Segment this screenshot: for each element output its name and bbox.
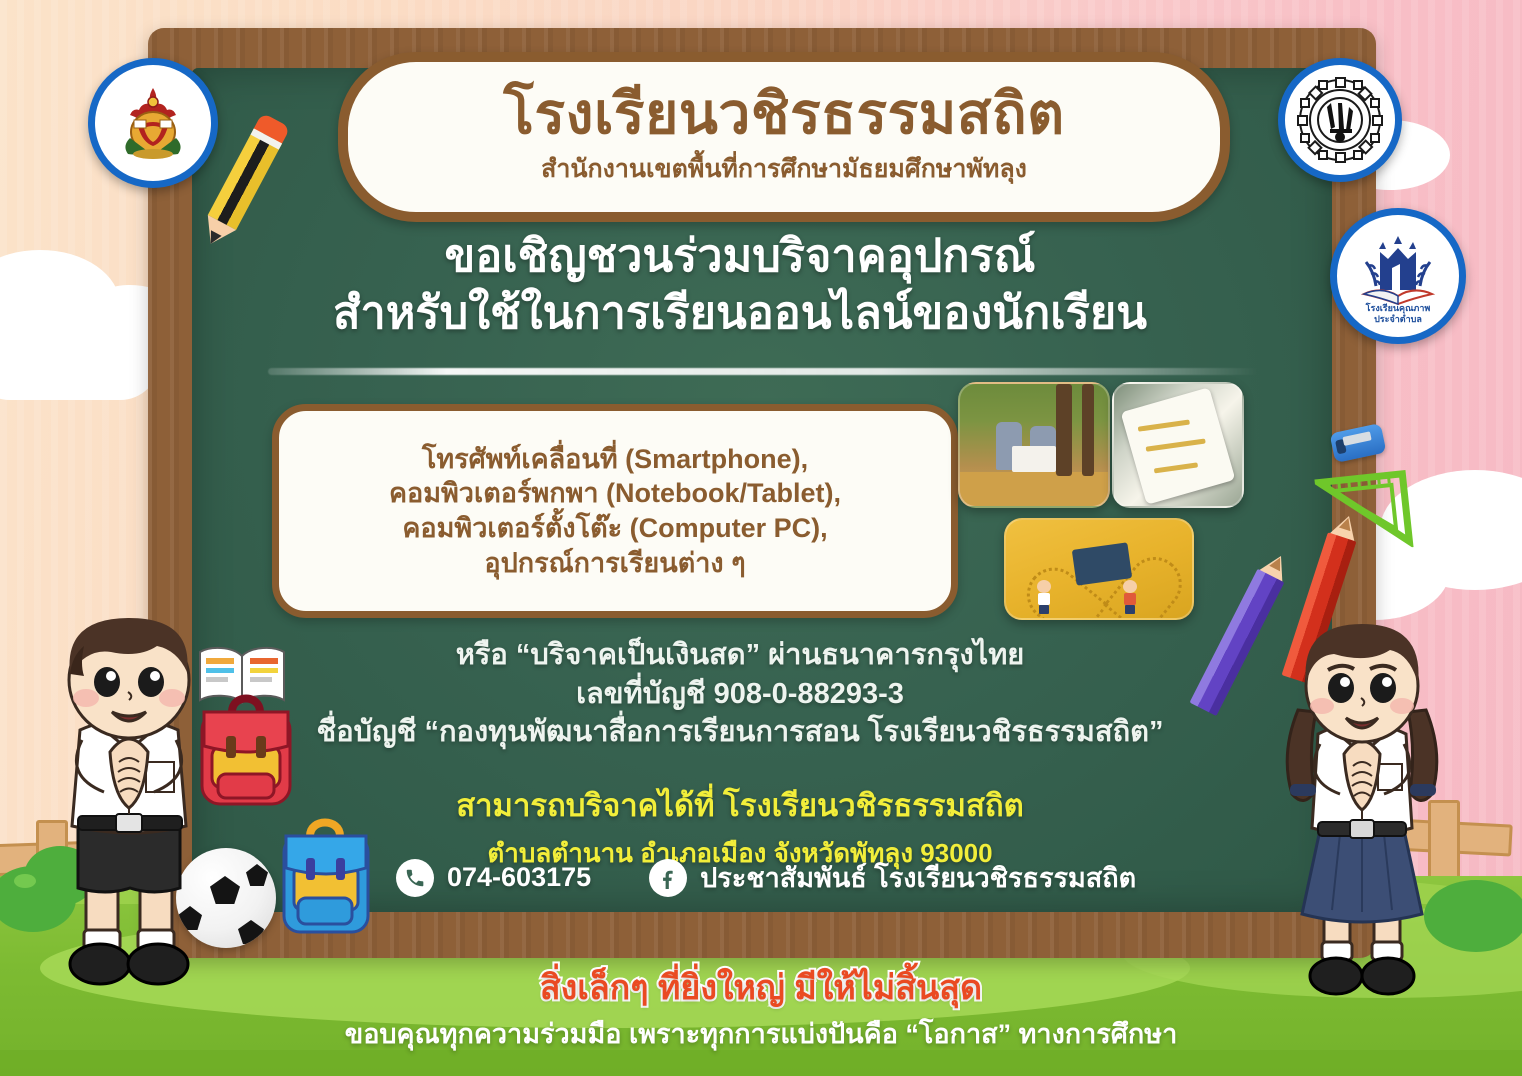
bank-donation-info: หรือ “บริจาคเป็นเงินสด” ผ่านธนาคารกรุงไท…: [210, 636, 1270, 752]
headline: ขอเชิญชวนร่วมบริจาคอุปกรณ์ สำหรับใช้ในกา…: [210, 228, 1270, 341]
poster-root: โรงเรียนวชิรธรรมสถิต สำนักงานเขตพื้นที่ก…: [0, 0, 1522, 1076]
contact-row: 074-603175 ประชาสัมพันธ์ โรงเรียนวชิรธรร…: [396, 856, 1136, 899]
blue-backpack-icon: [280, 812, 372, 938]
photo-child: [1122, 580, 1138, 614]
bank-line-1: หรือ “บริจาคเป็นเงินสด” ผ่านธนาคารกรุงไท…: [210, 636, 1270, 675]
page-subtitle: สำนักงานเขตพื้นที่การศึกษามัธยมศึกษาพัทล…: [541, 149, 1027, 189]
equipment-item: คอมพิวเตอร์ตั้งโต๊ะ (Computer PC),: [402, 511, 827, 546]
photo-scribble: [1154, 462, 1198, 473]
boy-student-character: [24, 612, 234, 1012]
photo-child: [1036, 580, 1052, 614]
facebook-icon: [649, 859, 687, 897]
photo-tree: [1056, 384, 1072, 476]
photo-child-body: [1124, 593, 1136, 605]
photo-child-legs: [1039, 605, 1049, 614]
photo-child-head: [1037, 580, 1051, 593]
cloud-icon: [0, 320, 160, 400]
quality-badge-line-2: ประจำตำบล: [1337, 314, 1459, 324]
ministry-of-education-emblem: [88, 58, 218, 188]
equipment-list-box: โทรศัพท์เคลื่อนที่ (Smartphone), คอมพิวเ…: [272, 404, 958, 618]
girl-student-character: [1262, 618, 1462, 1018]
photo-tree: [1082, 384, 1094, 476]
equipment-item: คอมพิวเตอร์พกพา (Notebook/Tablet),: [389, 476, 841, 511]
facebook-page-name: ประชาสัมพันธ์ โรงเรียนวชิรธรรมสถิต: [700, 856, 1136, 899]
headline-line-1: ขอเชิญชวนร่วมบริจาคอุปกรณ์: [210, 228, 1270, 285]
page-title: โรงเรียนวชิรธรรมสถิต: [503, 86, 1064, 143]
ball-pentagon: [246, 864, 268, 886]
equipment-item: อุปกรณ์การเรียนต่าง ๆ: [484, 546, 745, 581]
photo-laptop: [1012, 446, 1056, 472]
photo-students-outdoor-laptop: [958, 382, 1110, 508]
photo-online-learning-graphic: [1004, 518, 1194, 620]
quality-badge-line-1: โรงเรียนคุณภาพ: [1337, 303, 1459, 313]
sharpener-blade: [1342, 431, 1371, 446]
footer-thanks: ขอบคุณทุกความร่วมมือ เพราะทุกการแบ่งปันค…: [0, 1012, 1522, 1055]
chalk-divider: [268, 368, 1258, 375]
photo-scribble: [1138, 420, 1190, 432]
contact-facebook[interactable]: ประชาสัมพันธ์ โรงเรียนวชิรธรรมสถิต: [649, 856, 1136, 899]
bank-account-number: เลขที่บัญชี 908-0-88293-3: [210, 675, 1270, 714]
photo-child-head: [1123, 580, 1137, 593]
title-banner: โรงเรียนวชิรธรรมสถิต สำนักงานเขตพื้นที่ก…: [338, 52, 1230, 222]
quality-badge-text: โรงเรียนคุณภาพ ประจำตำบล: [1337, 303, 1459, 324]
ball-pentagon: [238, 920, 264, 944]
quality-school-badge: โรงเรียนคุณภาพ ประจำตำบล: [1330, 208, 1466, 344]
contact-phone[interactable]: 074-603175: [396, 859, 591, 897]
photo-scribble: [1146, 438, 1206, 451]
bank-account-name: ชื่อบัญชี “กองทุนพัฒนาสื่อการเรียนการสอน…: [210, 713, 1270, 752]
photo-foreground: [960, 472, 1108, 506]
photo-hand-holding-tablet: [1112, 382, 1244, 508]
photo-tablet: [1121, 387, 1236, 505]
phone-number: 074-603175: [447, 862, 591, 893]
equipment-item: โทรศัพท์เคลื่อนที่ (Smartphone),: [422, 442, 808, 477]
photo-child-legs: [1125, 605, 1135, 614]
headline-line-2: สำหรับใช้ในการเรียนออนไลน์ของนักเรียน: [210, 285, 1270, 342]
phone-icon: [396, 859, 434, 897]
photo-child-body: [1038, 593, 1050, 605]
school-seal: [1278, 58, 1402, 182]
